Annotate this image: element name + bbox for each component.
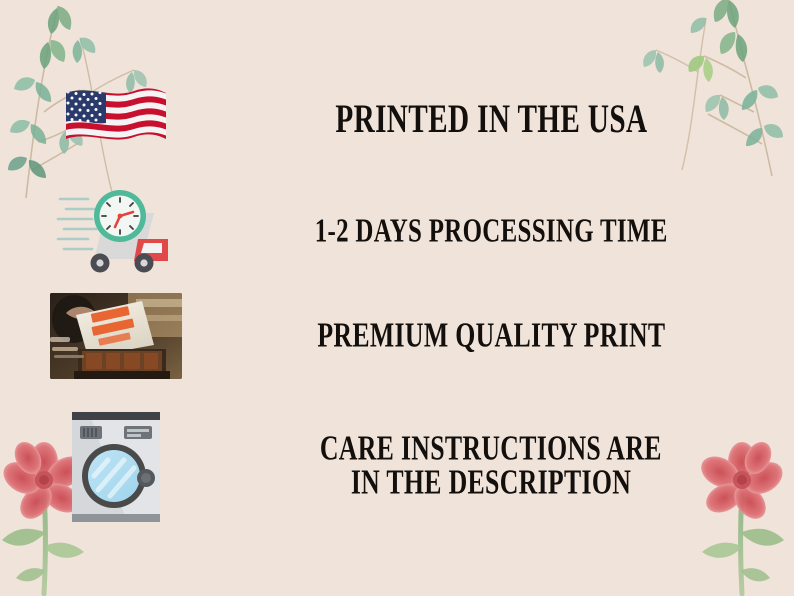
info-row-care-instructions: CARE INSTRUCTIONS ARE IN THE DESCRIPTION xyxy=(0,396,794,536)
text-cell-processing-time: 1-2 DAYS PROCESSING TIME xyxy=(232,215,794,247)
info-row-processing-time: 1-2 DAYS PROCESSING TIME xyxy=(0,184,794,278)
icon-cell-fast-delivery xyxy=(0,183,232,279)
headline-care-instructions-line2: IN THE DESCRIPTION xyxy=(351,463,631,503)
icon-cell-us-flag xyxy=(0,83,232,157)
screen-printing-photo-icon xyxy=(50,293,182,379)
fast-delivery-clock-icon xyxy=(58,183,174,279)
info-row-printed-in-usa: PRINTED IN THE USA xyxy=(0,74,794,166)
us-flag-icon xyxy=(62,83,170,157)
text-cell-premium-quality: PREMIUM QUALITY PRINT xyxy=(232,319,794,353)
headline-premium-quality: PREMIUM QUALITY PRINT xyxy=(317,316,665,356)
info-row-premium-quality: PREMIUM QUALITY PRINT xyxy=(0,288,794,384)
infographic-canvas: PRINTED IN THE USA xyxy=(0,0,794,596)
text-cell-care-instructions: CARE INSTRUCTIONS ARE IN THE DESCRIPTION xyxy=(232,432,794,499)
washing-machine-icon xyxy=(62,402,170,530)
icon-cell-washing-machine xyxy=(0,402,232,530)
text-cell-printed-in-usa: PRINTED IN THE USA xyxy=(232,101,794,139)
headline-processing-time: 1-2 DAYS PROCESSING TIME xyxy=(315,212,668,250)
headline-printed-in-usa: PRINTED IN THE USA xyxy=(335,98,647,143)
icon-cell-screen-printing xyxy=(0,293,232,379)
